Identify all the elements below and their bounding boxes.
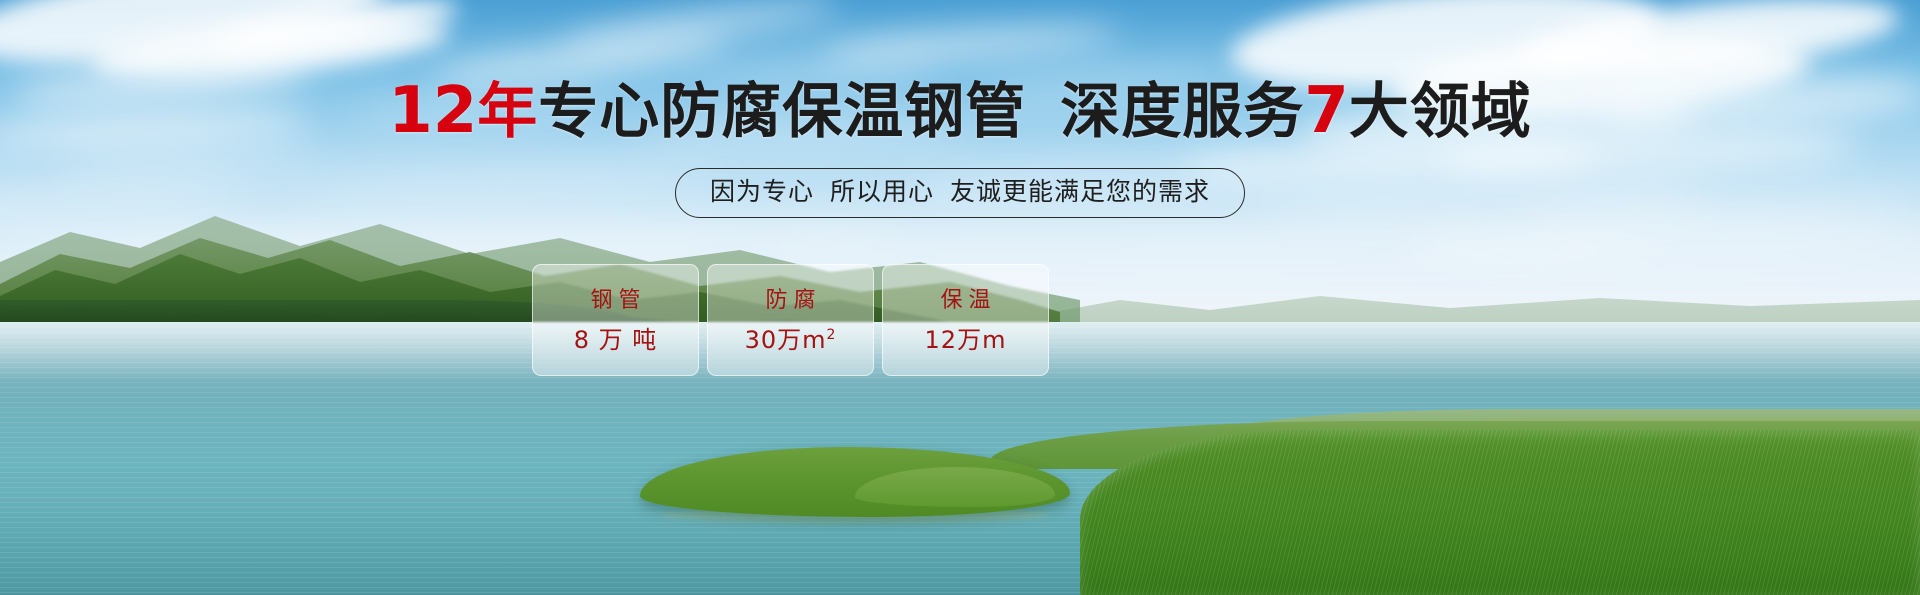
- stat-cards: 钢管 8 万 吨 防腐 30万m2 保温 12万m: [532, 264, 1049, 376]
- stat-card-value-text: 12万m: [925, 326, 1007, 354]
- subtitle-wrapper: 因为专心所以用心友诚更能满足您的需求: [0, 168, 1920, 218]
- banner-content: 12年专心防腐保温钢管深度服务7大领域 因为专心所以用心友诚更能满足您的需求 钢…: [0, 0, 1920, 595]
- stat-card-label: 防腐: [759, 288, 821, 314]
- stat-card-anticorrosion: 防腐 30万m2: [707, 264, 874, 376]
- stat-card-steel-pipe: 钢管 8 万 吨: [532, 264, 699, 376]
- headline-years-number: 12: [388, 74, 477, 148]
- stat-card-label: 保温: [934, 288, 996, 314]
- headline-years-unit: 年: [477, 77, 538, 147]
- subtitle-part-1: 因为专心: [710, 177, 814, 206]
- stat-card-value: 8 万 吨: [574, 327, 658, 353]
- stat-card-value: 12万m: [925, 327, 1007, 353]
- stat-card-value: 30万m2: [745, 327, 837, 353]
- headline-service-text: 深度服务: [1060, 77, 1304, 147]
- subtitle-pill: 因为专心所以用心友诚更能满足您的需求: [675, 168, 1245, 218]
- hero-banner: 12年专心防腐保温钢管深度服务7大领域 因为专心所以用心友诚更能满足您的需求 钢…: [0, 0, 1920, 595]
- subtitle-part-2: 所以用心: [830, 177, 934, 206]
- subtitle-part-3: 友诚更能满足您的需求: [950, 177, 1210, 206]
- stat-card-value-text: 8 万 吨: [574, 326, 658, 354]
- stat-card-value-text: 30万m: [745, 326, 827, 354]
- headline-main-text: 专心防腐保温钢管: [538, 77, 1026, 147]
- stat-card-value-sup: 2: [827, 327, 837, 343]
- stat-card-insulation: 保温 12万m: [882, 264, 1049, 376]
- headline: 12年专心防腐保温钢管深度服务7大领域: [0, 80, 1920, 143]
- headline-fields-text: 大领域: [1349, 77, 1532, 147]
- headline-fields-number: 7: [1304, 74, 1349, 148]
- stat-card-label: 钢管: [584, 288, 646, 314]
